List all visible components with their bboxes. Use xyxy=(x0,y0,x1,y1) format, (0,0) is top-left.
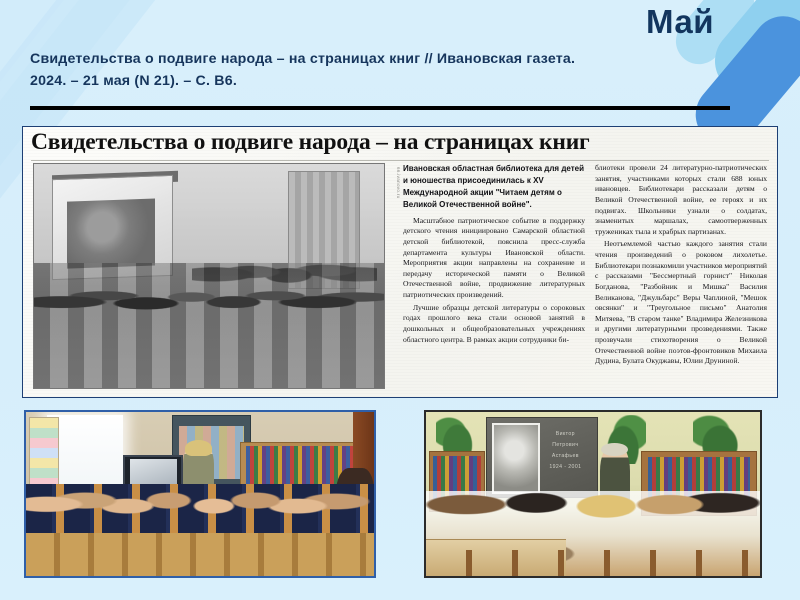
clipping-right-paragraph-2: Неотъемлемой частью каждого занятия стал… xyxy=(595,239,767,367)
citation-block: Свидетельства о подвиге народа – на стра… xyxy=(30,48,742,93)
photo-watermark: 66.ivanovo.ru xyxy=(389,167,401,277)
portrait-name-line-3: Астафьев xyxy=(538,451,593,462)
clipping-photo xyxy=(33,163,385,389)
newspaper-clipping: Свидетельства о подвиге народа – на стра… xyxy=(22,126,778,398)
classroom-projection-screen: Виктор Петрович Астафьев 1924 - 2001 xyxy=(486,417,598,498)
clipping-mid-paragraph-2: Лучшие образцы детской литературы о соро… xyxy=(403,303,585,346)
portrait-name-line-1: Виктор xyxy=(538,429,593,440)
citation-line-1: Свидетельства о подвиге народа – на стра… xyxy=(30,48,742,70)
portrait-name-line-2: Петрович xyxy=(538,440,593,451)
clipping-column-right: блиотеки провели 24 литературно-патриоти… xyxy=(595,163,767,389)
clipping-headline: Свидетельства о подвиге народа – на стра… xyxy=(31,129,769,159)
clipping-column-middle: Ивановская областная библиотека для дете… xyxy=(403,163,585,389)
clipping-lead-paragraph: Ивановская областная библиотека для дете… xyxy=(403,163,585,212)
clipping-headline-rule xyxy=(31,160,769,161)
classroom-chairs xyxy=(426,550,760,576)
photo-bottom-right: Виктор Петрович Астафьев 1924 - 2001 xyxy=(424,410,762,578)
photo-bottom-left xyxy=(24,410,376,578)
library-chairs xyxy=(26,533,374,576)
writer-portrait xyxy=(492,423,540,495)
photo-bottom-right-scene: Виктор Петрович Астафьев 1924 - 2001 xyxy=(426,412,760,576)
library-wall-posters xyxy=(29,417,59,485)
clipping-mid-paragraph-1: Масштабное патриотическое событие в подд… xyxy=(403,216,585,301)
clipping-right-paragraph-1: блиотеки провели 24 литературно-патриоти… xyxy=(595,163,767,237)
header-divider-rule xyxy=(30,106,730,110)
photo-bottom-left-scene xyxy=(26,412,374,576)
hall-audience-heads xyxy=(34,258,384,321)
library-monitor-screen xyxy=(130,459,177,487)
citation-line-2: 2024. – 21 мая (N 21). – С. B6. xyxy=(30,70,742,92)
slide-canvas: Май Свидетельства о подвиге народа – на … xyxy=(0,0,800,600)
library-presenter-hair xyxy=(185,440,212,456)
month-title: Май xyxy=(646,4,714,40)
slide-portrait-caption: Виктор Петрович Астафьев 1924 - 2001 xyxy=(538,429,593,473)
portrait-years: 1924 - 2001 xyxy=(538,462,593,473)
